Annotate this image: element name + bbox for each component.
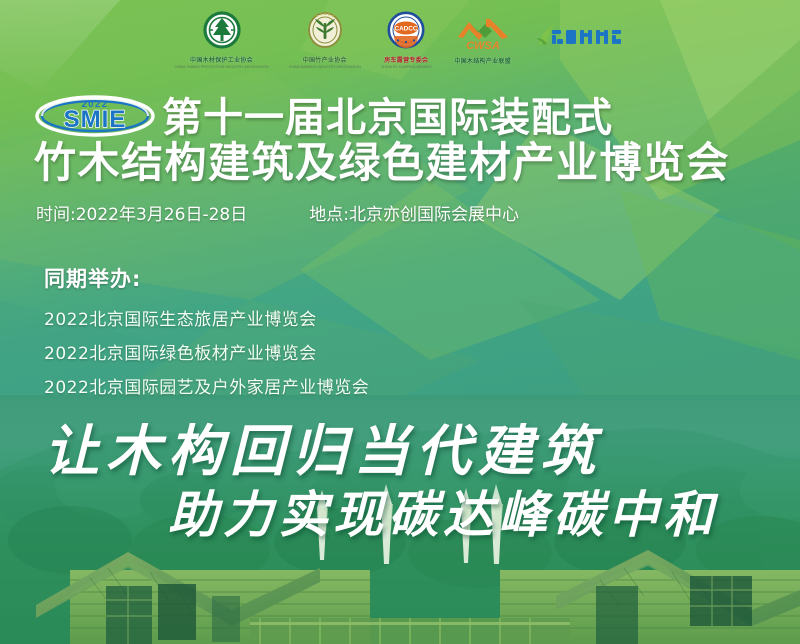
sponsor-logo-cadcc-rv-camping[interactable]: CADCC 房车露营专委会 CHINA RV CAMPING BRANCH xyxy=(381,10,432,69)
sponsor-logo-strip: 中国木材保护工业协会 CHINA TIMBER PROTECTION INDUS… xyxy=(0,8,800,70)
slogan-line1: 让木构回归当代建筑 xyxy=(44,418,602,484)
sponsor-logo-cwsa-wood-structure[interactable]: CWSA 中国木结构产业联盟 xyxy=(452,13,514,66)
event-date: 时间:2022年3月26日-28日 xyxy=(36,203,247,227)
event-venue: 地点:北京亦创国际会展中心 xyxy=(309,203,519,227)
house-roof-icon: CWSA xyxy=(452,13,514,58)
sponsor-caption: 中国木材保护工业协会 xyxy=(190,58,253,65)
slogan-line2: 助力实现碳达峰碳中和 xyxy=(168,484,718,546)
sponsor-subcaption: CHINA RV CAMPING BRANCH xyxy=(381,65,432,69)
smie-logo[interactable]: 2022 SMIE xyxy=(34,92,156,143)
headline-row: 2022 SMIE 第十一届北京国际装配式 xyxy=(34,92,613,143)
svg-text:CWSA: CWSA xyxy=(466,40,500,52)
tree-seal-icon xyxy=(200,10,244,57)
concurrent-events-heading: 同期举办: xyxy=(44,265,369,293)
sponsor-subcaption: CHINA BAMBOO INDUSTRY ASSOCIATION xyxy=(289,65,361,69)
concurrent-event-item: 2022北京国际园艺及户外家居产业博览会 xyxy=(44,371,369,405)
sponsor-caption: 中国竹产业协会 xyxy=(303,58,347,65)
smie-wordmark-text: SMIE xyxy=(64,106,127,133)
sponsor-logo-bamboo-association[interactable]: 中国竹产业协会 CHINA BAMBOO INDUSTRY ASSOCIATIO… xyxy=(289,10,361,69)
event-meta-row: 时间:2022年3月26日-28日 地点:北京亦创国际会展中心 xyxy=(36,203,776,227)
cadcc-seal-icon: CADCC xyxy=(384,10,428,57)
sponsor-logo-china-timber-protection[interactable]: 中国木材保护工业协会 CHINA TIMBER PROTECTION INDUS… xyxy=(174,10,268,69)
concurrent-events-block: 同期举办: 2022北京国际生态旅居产业博览会 2022北京国际绿色板材产业博览… xyxy=(44,265,369,405)
sponsor-logo-senmei[interactable] xyxy=(534,22,626,57)
svg-text:CADCC: CADCC xyxy=(395,25,418,32)
expo-banner: 中国木材保护工业协会 CHINA TIMBER PROTECTION INDUS… xyxy=(0,0,800,644)
senmei-leaf-icon xyxy=(534,22,626,57)
sponsor-subcaption: CHINA TIMBER PROTECTION INDUSTRY ASSOCIA… xyxy=(174,65,268,69)
sponsor-caption: 中国木结构产业联盟 xyxy=(454,59,511,66)
concurrent-event-item: 2022北京国际生态旅居产业博览会 xyxy=(44,303,369,337)
concurrent-event-item: 2022北京国际绿色板材产业博览会 xyxy=(44,337,369,371)
expo-title-line2: 竹木结构建筑及绿色建材产业博览会 xyxy=(34,139,730,187)
expo-title-line1: 第十一届北京国际装配式 xyxy=(162,96,613,140)
bamboo-seal-icon xyxy=(305,10,345,57)
sponsor-caption: 房车露营专委会 xyxy=(384,58,428,65)
